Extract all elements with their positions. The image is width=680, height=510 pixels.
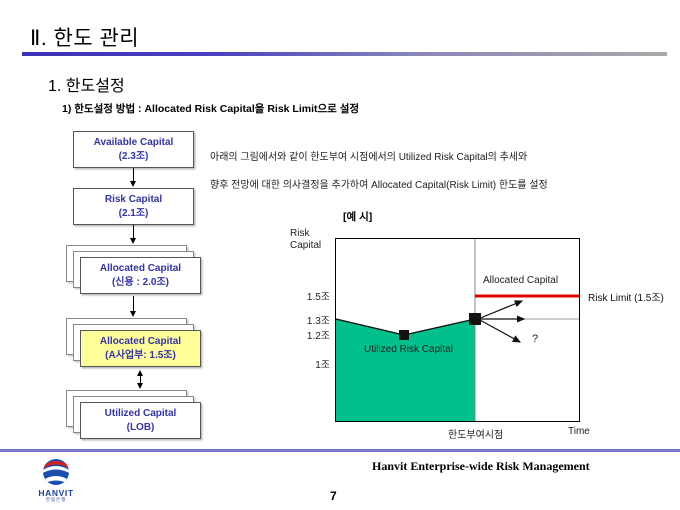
chart-x-axis-label: Time (568, 426, 590, 437)
chart-xtick-limit-assignment: 한도부여시점 (448, 426, 503, 441)
flow-box-available-capital[interactable]: Available Capital (2.3조) (73, 131, 194, 168)
flow-box-line1: Utilized Capital (105, 407, 177, 421)
flow-arrow-head-2 (130, 238, 136, 244)
example-chart: [예 시] Risk Capital 1.5조 1.3조 1.2조 1조 (280, 200, 680, 450)
chart-y-axis-label: Risk Capital (290, 228, 321, 252)
hanvit-logo-mark (28, 458, 84, 488)
flow-box-line1: Available Capital (94, 136, 174, 150)
flow-box-line2: (2.1조) (119, 207, 149, 221)
flow-box-line2: (2.3조) (119, 150, 149, 164)
description-line-1: 아래의 그림에서와 같이 한도부여 시점에서의 Utilized Risk Ca… (210, 148, 527, 163)
chart-marker-limit-point (469, 313, 481, 325)
slide-canvas: Ⅱ. 한도 관리 1. 한도설정 1) 한도설정 방법 : Allocated … (0, 0, 680, 510)
chart-allocated-capital-label: Allocated Capital (483, 275, 558, 286)
chart-risk-limit-label: Risk Limit (1.5조) (588, 289, 664, 304)
flow-box-line2: (신용 : 2.0조) (112, 276, 169, 290)
flow-connector-1 (133, 168, 134, 182)
flow-arrow-head-1 (130, 181, 136, 187)
chart-series-label: Utilized Risk Capital (364, 344, 453, 355)
chart-ytick-1: 1.3조 (280, 312, 330, 327)
flow-connector-3 (133, 296, 134, 312)
flow-box-allocated-capital-division-a[interactable]: Allocated Capital (A사업부: 1.5조) (80, 330, 201, 367)
chart-svg (336, 239, 579, 421)
flow-box-risk-capital[interactable]: Risk Capital (2.1조) (73, 188, 194, 225)
footer-title: Hanvit Enterprise-wide Risk Management (372, 459, 590, 474)
flow-box-line1: Allocated Capital (100, 262, 181, 276)
description-line-2: 향후 전망에 대한 의사결정을 추가하여 Allocated Capital(R… (210, 176, 548, 191)
chart-forecast-arrow-up (478, 301, 522, 319)
chart-y-axis-label-line2: Capital (290, 240, 321, 252)
flow-box-line1: Risk Capital (105, 193, 162, 207)
page-number: 7 (330, 489, 337, 503)
flow-box-line2: (A사업부: 1.5조) (105, 349, 176, 363)
chart-forecast-arrow-down (478, 319, 520, 342)
title-divider (22, 52, 667, 56)
chart-marker-dip (399, 330, 409, 340)
flow-box-line1: Allocated Capital (100, 335, 181, 349)
hanvit-logo: HANVIT 한빛은행 (28, 458, 84, 504)
subsection-heading: 1) 한도설정 방법 : Allocated Risk Capital을 Ris… (62, 101, 359, 116)
chart-ytick-2: 1.2조 (280, 327, 330, 342)
flow-box-utilized-capital[interactable]: Utilized Capital (LOB) (80, 402, 201, 439)
chart-example-tag: [예 시] (343, 209, 372, 224)
flow-arrow-head-3 (130, 311, 136, 317)
chart-y-axis-label-line1: Risk (290, 228, 321, 240)
chart-ytick-3: 1조 (280, 356, 330, 371)
flow-connector-2 (133, 225, 134, 239)
section-heading: 1. 한도설정 (48, 72, 125, 96)
chart-forecast-question-label: ? (532, 333, 538, 345)
footer-divider (0, 449, 680, 452)
chart-ytick-0: 1.5조 (280, 288, 330, 303)
flow-arrow-head-4-down (137, 383, 143, 389)
flow-box-allocated-capital-credit[interactable]: Allocated Capital (신용 : 2.0조) (80, 257, 201, 294)
page-title: Ⅱ. 한도 관리 (30, 22, 139, 52)
chart-plot-area: Allocated Capital Utilized Risk Capital … (335, 238, 580, 422)
hanvit-logo-subtitle: 한빛은행 (28, 497, 84, 503)
flow-box-line2: (LOB) (127, 421, 155, 435)
